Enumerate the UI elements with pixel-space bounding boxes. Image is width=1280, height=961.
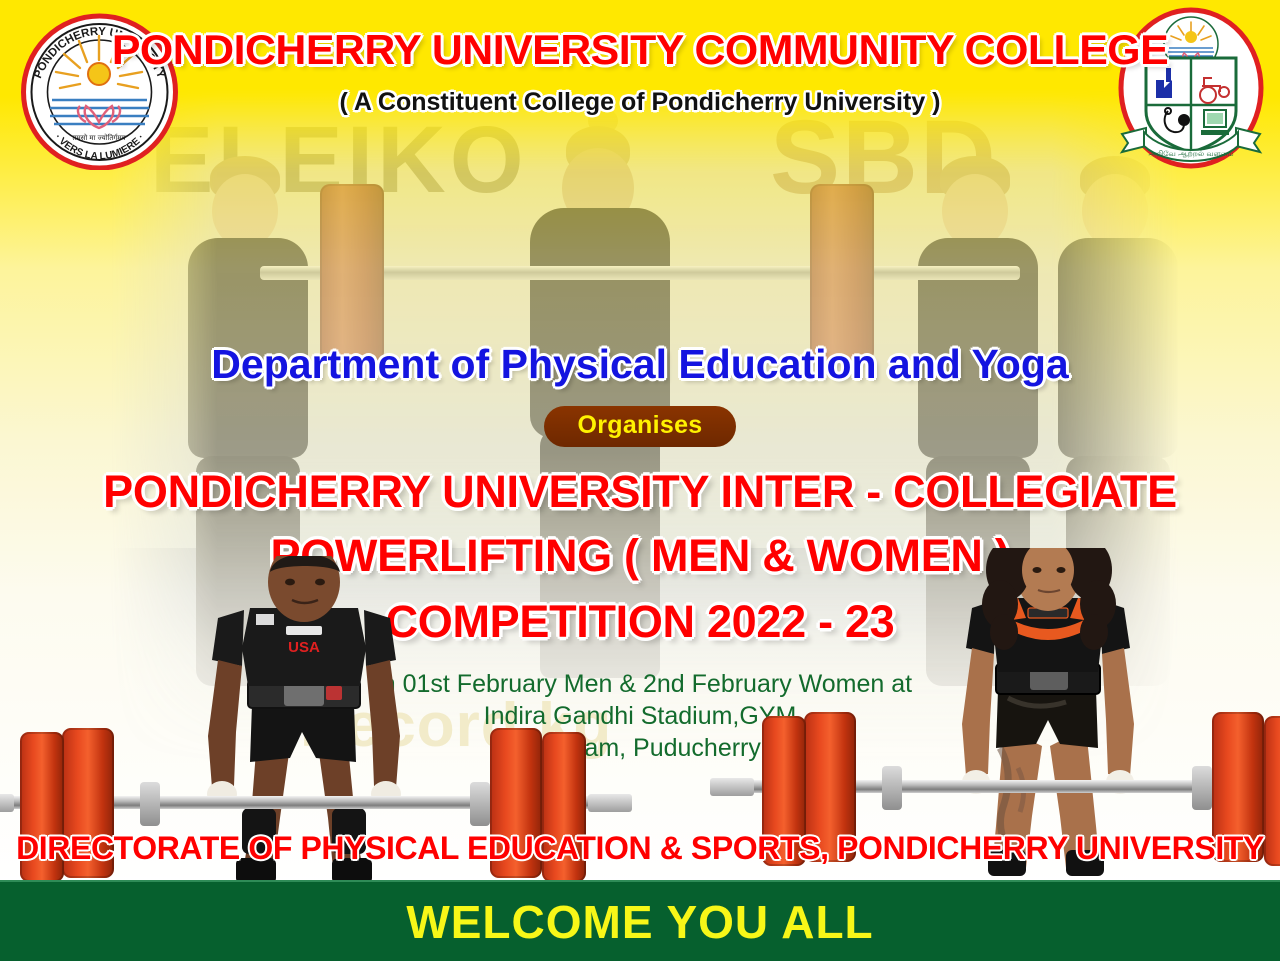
male-sleeve-end-right <box>588 794 632 812</box>
male-sleeve-end-left <box>0 794 14 812</box>
male-collar-left <box>140 782 160 826</box>
background-plate-right <box>810 184 874 362</box>
welcome-banner: WELCOME YOU ALL <box>0 880 1280 961</box>
svg-text:तमसो मा ज्योतिर्गमय: तमसो मा ज्योतिर्गमय <box>72 133 126 142</box>
department-title: Department of Physical Education and Yog… <box>0 341 1280 388</box>
organises-badge: Organises <box>544 406 737 447</box>
background-squat-lifter <box>500 108 700 668</box>
female-sleeve-end-left <box>710 778 754 796</box>
female-collar-left <box>882 766 902 810</box>
singlet-usa-text: USA <box>288 639 320 656</box>
welcome-text: WELCOME YOU ALL <box>406 895 873 949</box>
svg-text:அறிவே ஆற்றல் வளமை: அறிவே ஆற்றல் வளமை <box>1148 149 1233 158</box>
event-title-line-1: PONDICHERRY UNIVERSITY INTER - COLLEGIAT… <box>0 466 1280 518</box>
page-title: PONDICHERRY UNIVERSITY COMMUNITY COLLEGE <box>0 26 1280 74</box>
directorate-line: DIRECTORATE OF PHYSICAL EDUCATION & SPOR… <box>0 830 1280 867</box>
page-subtitle: ( A Constituent College of Pondicherry U… <box>0 88 1280 117</box>
background-plate-left <box>320 184 384 362</box>
female-collar-right <box>1192 766 1212 810</box>
male-collar-right <box>470 782 490 826</box>
poster-canvas: ELEIKO SBD Record kg <box>0 0 1280 961</box>
organises-badge-wrap: Organises <box>0 406 1280 447</box>
